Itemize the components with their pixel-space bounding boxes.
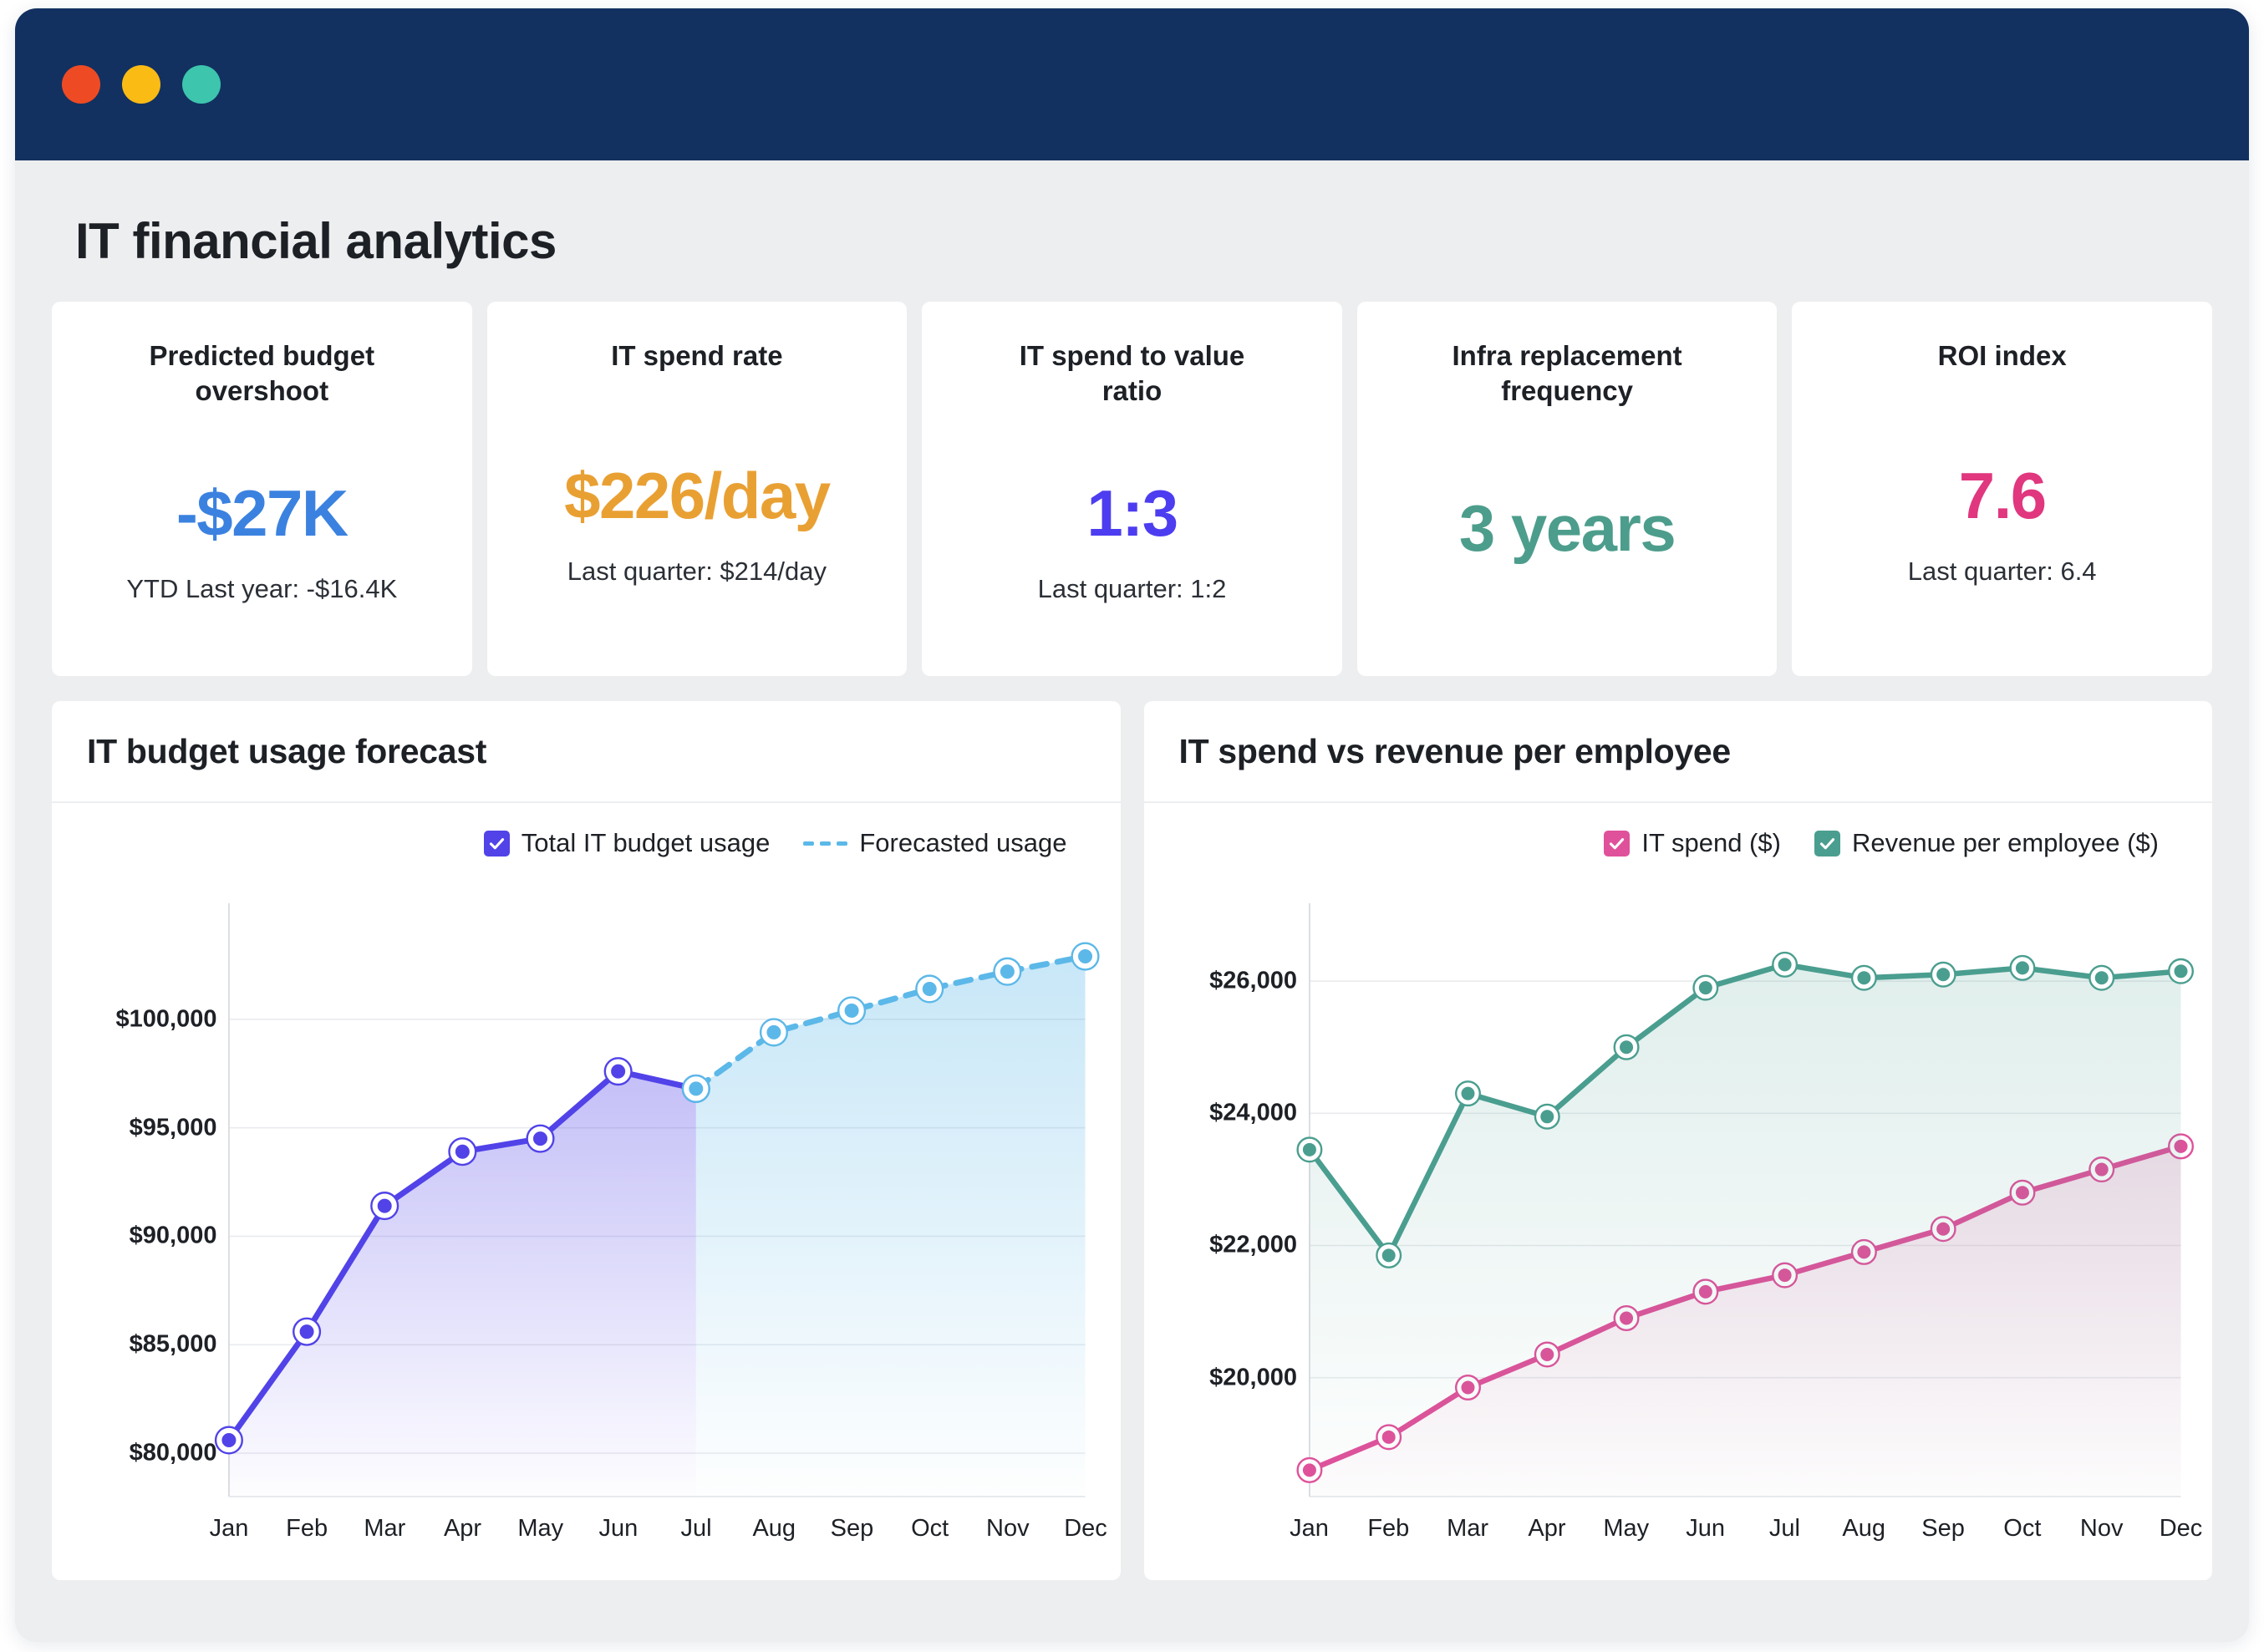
x-axis-tick-label: Aug [1842, 1515, 1885, 1543]
x-axis-tick-label: Dec [2160, 1515, 2203, 1543]
y-axis-tick-label: $90,000 [130, 1222, 217, 1250]
x-axis-tick-label: Mar [1447, 1515, 1488, 1543]
maximize-window-button[interactable] [182, 65, 221, 104]
kpi-card-roi-index[interactable]: ROI index 7.6 Last quarter: 6.4 [1792, 302, 2212, 676]
x-axis-tick-label: Apr [1528, 1515, 1565, 1543]
kpi-subtext: YTD Last year: -$16.4K [126, 574, 397, 604]
panel-body: IT spend ($) Revenue per employee ($) $2… [1144, 803, 2213, 1580]
legend-item-revenue-per-employee[interactable]: Revenue per employee ($) [1814, 828, 2159, 858]
x-axis-tick-label: Sep [831, 1515, 874, 1543]
y-axis-tick-label: $95,000 [130, 1114, 217, 1141]
legend-label: IT spend ($) [1641, 828, 1781, 858]
dashboard-content: IT financial analytics Predicted budget … [15, 212, 2249, 1580]
chart-legend-left: Total IT budget usage Forecasted usage [52, 803, 1121, 883]
x-axis-tick-label: Feb [1367, 1515, 1409, 1543]
x-axis-tick-label: Aug [752, 1515, 796, 1543]
kpi-value: 1:3 [1086, 480, 1177, 546]
kpi-subtext: Last quarter: 6.4 [1908, 557, 2097, 587]
chart-legend-right: IT spend ($) Revenue per employee ($) [1144, 803, 2213, 883]
x-axis-tick-label: Jul [681, 1515, 712, 1543]
x-axis-tick-label: Jan [210, 1515, 249, 1543]
legend-label: Forecasted usage [859, 828, 1066, 858]
kpi-card-it-spend-to-value-ratio[interactable]: IT spend to value ratio 1:3 Last quarter… [922, 302, 1342, 676]
x-axis-tick-label: Jun [599, 1515, 638, 1543]
panel-body: Total IT budget usage Forecasted usage $… [52, 803, 1121, 1580]
dashed-line-icon [803, 841, 847, 846]
x-axis-tick-label: Oct [2003, 1515, 2041, 1543]
kpi-card-it-spend-rate[interactable]: IT spend rate $226/day Last quarter: $21… [487, 302, 908, 676]
x-axis-tick-label: Nov [986, 1515, 1030, 1543]
app-window: IT financial analytics Predicted budget … [15, 8, 2249, 1642]
x-axis-tick-label: Jul [1769, 1515, 1800, 1543]
minimize-window-button[interactable] [122, 65, 160, 104]
charts-row: IT budget usage forecast Total IT budget… [52, 701, 2212, 1580]
kpi-label: ROI index [1938, 338, 2067, 374]
y-axis-tick-label: $80,000 [130, 1440, 217, 1467]
chart-plot-area-right[interactable]: $20,000$22,000$24,000$26,000JanFebMarApr… [1144, 883, 2213, 1580]
y-axis-tick-label: $24,000 [1209, 1100, 1297, 1127]
kpi-subtext: Last quarter: 1:2 [1038, 574, 1227, 604]
legend-item-it-spend[interactable]: IT spend ($) [1604, 828, 1781, 858]
kpi-label: Predicted budget overshoot [124, 338, 399, 409]
window-titlebar [15, 8, 2249, 160]
x-axis-tick-label: Sep [1921, 1515, 1965, 1543]
kpi-card-row: Predicted budget overshoot -$27K YTD Las… [52, 302, 2212, 676]
kpi-label: IT spend rate [611, 338, 782, 374]
x-axis-tick-label: Mar [364, 1515, 405, 1543]
kpi-card-infra-replacement-frequency[interactable]: Infra replacement frequency 3 years [1357, 302, 1778, 676]
x-axis-tick-label: Nov [2080, 1515, 2124, 1543]
checkbox-icon[interactable] [1814, 831, 1840, 856]
x-axis-tick-label: Jun [1686, 1515, 1725, 1543]
legend-label: Revenue per employee ($) [1852, 828, 2159, 858]
close-window-button[interactable] [62, 65, 100, 104]
panel-title: IT spend vs revenue per employee [1179, 732, 1731, 771]
kpi-subtext: Last quarter: $214/day [567, 557, 827, 587]
panel-it-budget-usage-forecast: IT budget usage forecast Total IT budget… [52, 701, 1121, 1580]
kpi-value: 3 years [1459, 496, 1675, 561]
checkbox-icon[interactable] [484, 831, 510, 856]
panel-title: IT budget usage forecast [87, 732, 486, 771]
x-axis-tick-label: Feb [286, 1515, 328, 1543]
panel-header: IT budget usage forecast [52, 701, 1121, 803]
kpi-value: 7.6 [1959, 463, 2046, 528]
y-axis-tick-label: $22,000 [1209, 1232, 1297, 1259]
y-axis-tick-label: $20,000 [1209, 1364, 1297, 1391]
x-axis-tick-label: Jan [1290, 1515, 1329, 1543]
legend-label: Total IT budget usage [521, 828, 771, 858]
kpi-label: Infra replacement frequency [1429, 338, 1705, 409]
checkbox-icon[interactable] [1604, 831, 1630, 856]
legend-item-total-it-budget-usage[interactable]: Total IT budget usage [484, 828, 771, 858]
kpi-label: IT spend to value ratio [994, 338, 1269, 409]
kpi-value: -$27K [176, 480, 348, 546]
x-axis-tick-label: Apr [444, 1515, 481, 1543]
x-axis-tick-label: May [517, 1515, 563, 1543]
y-axis-tick-label: $100,000 [116, 1005, 217, 1033]
page-title: IT financial analytics [75, 212, 2212, 270]
kpi-card-predicted-budget-overshoot[interactable]: Predicted budget overshoot -$27K YTD Las… [52, 302, 472, 676]
y-axis-tick-label: $85,000 [130, 1331, 217, 1359]
x-axis-tick-label: Oct [911, 1515, 949, 1543]
panel-it-spend-vs-revenue-per-employee: IT spend vs revenue per employee IT spen… [1144, 701, 2213, 1580]
chart-plot-area-left[interactable]: $80,000$85,000$90,000$95,000$100,000JanF… [52, 883, 1121, 1580]
legend-item-forecasted-usage[interactable]: Forecasted usage [803, 828, 1066, 858]
panel-header: IT spend vs revenue per employee [1144, 701, 2213, 803]
x-axis-tick-label: Dec [1064, 1515, 1107, 1543]
kpi-value: $226/day [564, 463, 830, 528]
x-axis-tick-label: May [1603, 1515, 1649, 1543]
y-axis-tick-label: $26,000 [1209, 968, 1297, 995]
